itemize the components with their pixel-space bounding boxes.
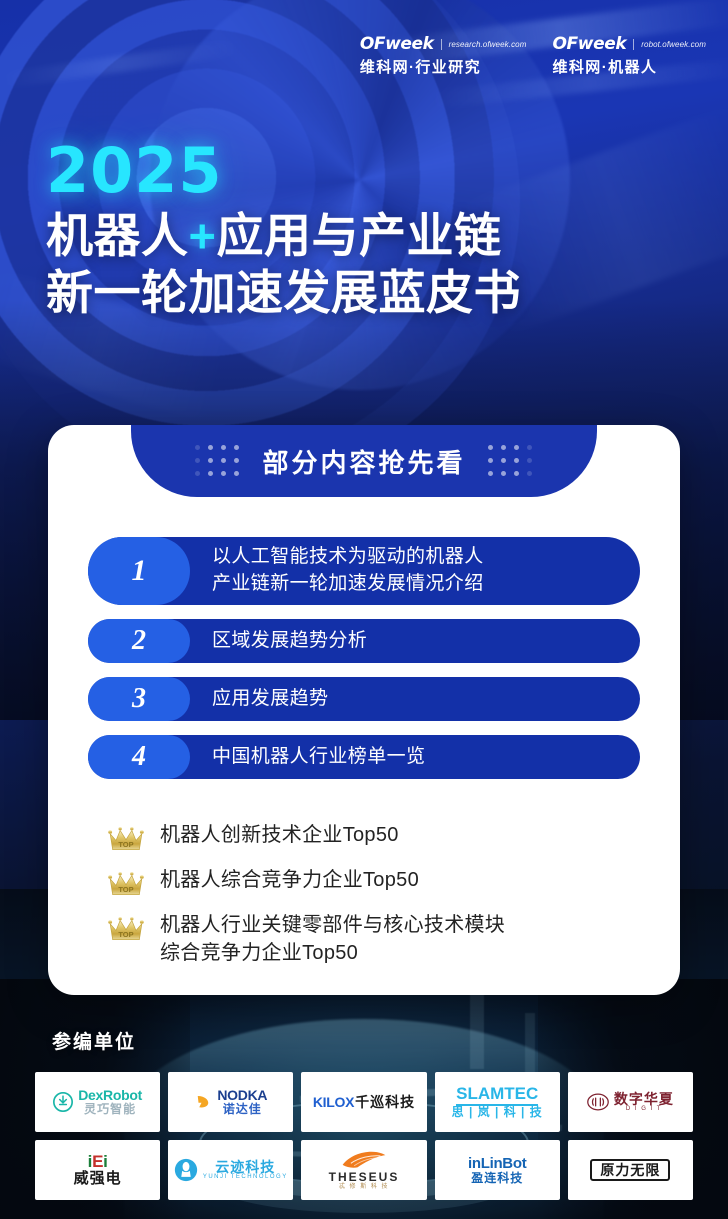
partner-logo-sub: 忒 修 斯 科 技	[339, 1184, 389, 1190]
brand-robot-cn: 维科网·机器人	[553, 56, 658, 77]
svg-text:TOP: TOP	[118, 840, 133, 849]
partner-logo[interactable]: inLinBot盈连科技	[435, 1140, 560, 1200]
partner-logo-mark-icon	[174, 1158, 198, 1182]
title-line1-part-a: 机器人	[46, 209, 189, 262]
poster-root: OFweek research.ofweek.com 维科网·行业研究 OFwe…	[0, 0, 728, 1219]
divider	[633, 39, 634, 50]
svg-text:TOP: TOP	[118, 885, 133, 894]
dot-grid-right-icon	[488, 445, 533, 477]
brand-robot[interactable]: OFweek robot.ofweek.com 维科网·机器人	[553, 36, 707, 77]
partner-logo-cn: 盈连科技	[471, 1172, 523, 1185]
partner-logo-mark-icon	[194, 1093, 212, 1111]
partner-logo-cn: 威强电	[74, 1171, 122, 1187]
row-number-badge: 4	[88, 735, 190, 779]
crown-list-item[interactable]: TOP 机器人行业关键零部件与核心技术模块综合竞争力企业Top50	[106, 911, 646, 968]
title-line-2: 新一轮加速发展蓝皮书	[46, 264, 521, 321]
crown-item-label: 机器人行业关键零部件与核心技术模块综合竞争力企业Top50	[160, 911, 505, 968]
row-label: 应用发展趋势	[190, 680, 346, 719]
brand-research-url: research.ofweek.com	[449, 40, 527, 49]
content-row[interactable]: 1以人工智能技术为驱动的机器人产业链新一轮加速发展情况介绍	[88, 537, 640, 605]
partner-logo-cn: 灵巧智能	[84, 1103, 136, 1116]
title-line1-part-b: 应用与产业链	[216, 209, 501, 262]
partner-logo[interactable]: 原力无限	[568, 1140, 693, 1200]
partner-logo[interactable]: 数字华夏D I G I T	[568, 1072, 693, 1132]
poster-title: 2025 机器人+应用与产业链 新一轮加速发展蓝皮书	[46, 142, 521, 322]
partners-label: 参编单位	[52, 1027, 136, 1054]
partner-logo[interactable]: SLAMTEC思 | 岚 | 科 | 技	[435, 1072, 560, 1132]
partner-logo-en: KILOX	[313, 1095, 354, 1110]
background-deck-bar	[525, 1013, 535, 1079]
content-card: 部分内容抢先看 1以人工智能技术为驱动的机器人产业链新一轮加速发展情况介绍2区域…	[48, 425, 680, 995]
partner-logo-en: inLinBot	[468, 1156, 526, 1172]
dot-grid-left-icon	[195, 445, 240, 477]
crown-list: TOP 机器人创新技术企业Top50 TOP 机器人综合竞争力企业Top50 T…	[106, 821, 646, 981]
title-plus-symbol: +	[189, 209, 217, 262]
ofweek-logo-icon: OFweek	[553, 36, 627, 53]
partner-logo-en: SLAMTEC	[456, 1085, 538, 1106]
partner-logo-cn: 数字华夏	[614, 1092, 674, 1107]
partner-logo-mark-icon	[53, 1092, 73, 1112]
partner-logo-sub: D I G I T	[626, 1106, 662, 1112]
partner-logo-en: NODKA	[217, 1088, 267, 1103]
partner-logo[interactable]: 云迹科技YUNJI TECHNOLOGY	[168, 1140, 293, 1200]
row-number-badge: 1	[88, 537, 190, 605]
crown-list-item[interactable]: TOP 机器人综合竞争力企业Top50	[106, 866, 646, 898]
crown-top-icon: TOP	[106, 823, 146, 853]
crown-item-label: 机器人综合竞争力企业Top50	[160, 866, 419, 894]
partner-logo-cn: 云迹科技	[215, 1160, 275, 1175]
title-year: 2025	[46, 142, 521, 201]
row-number-badge: 3	[88, 677, 190, 721]
numbered-rows: 1以人工智能技术为驱动的机器人产业链新一轮加速发展情况介绍2区域发展趋势分析3应…	[88, 537, 640, 793]
partner-logo[interactable]: KILOX千巡科技	[301, 1072, 426, 1132]
partner-logo[interactable]: NODKA诺达佳	[168, 1072, 293, 1132]
content-row[interactable]: 3应用发展趋势	[88, 677, 640, 721]
content-row[interactable]: 2区域发展趋势分析	[88, 619, 640, 663]
crown-list-item[interactable]: TOP 机器人创新技术企业Top50	[106, 821, 646, 853]
crown-item-label: 机器人创新技术企业Top50	[160, 821, 399, 849]
brand-robot-top: OFweek robot.ofweek.com	[553, 36, 707, 53]
crown-top-icon: TOP	[106, 913, 146, 943]
crown-top-icon: TOP	[106, 913, 146, 943]
brand-bar: OFweek research.ofweek.com 维科网·行业研究 OFwe…	[360, 36, 706, 77]
row-label: 以人工智能技术为驱动的机器人产业链新一轮加速发展情况介绍	[190, 538, 502, 604]
crown-top-icon: TOP	[106, 868, 146, 898]
brand-robot-url: robot.ofweek.com	[641, 40, 706, 49]
title-line-1: 机器人+应用与产业链	[46, 207, 521, 264]
partner-logo[interactable]: THESEUS忒 修 斯 科 技	[301, 1140, 426, 1200]
brand-research-cn: 维科网·行业研究	[360, 56, 481, 77]
background-deck-bar	[470, 989, 484, 1069]
row-number-badge: 2	[88, 619, 190, 663]
crown-top-icon: TOP	[106, 868, 146, 898]
partner-logo-grid: DexRobot灵巧智能NODKA诺达佳KILOX千巡科技SLAMTEC思 | …	[35, 1072, 693, 1200]
partner-logo-en: THESEUS	[329, 1171, 400, 1184]
partner-logo-cn: 诺达佳	[223, 1103, 262, 1116]
partner-logo-cn: 原力无限	[600, 1163, 660, 1178]
partner-logo-mark-icon	[587, 1093, 609, 1111]
partner-logo-cn: 思 | 岚 | 科 | 技	[452, 1106, 543, 1119]
partner-logo-sub: YUNJI TECHNOLOGY	[203, 1174, 288, 1180]
partner-logo[interactable]: DexRobot灵巧智能	[35, 1072, 160, 1132]
card-ribbon-header: 部分内容抢先看	[131, 425, 597, 497]
brand-research-top: OFweek research.ofweek.com	[360, 36, 527, 53]
partner-logo[interactable]: iEi威强电	[35, 1140, 160, 1200]
row-label: 中国机器人行业榜单一览	[190, 738, 443, 777]
svg-text:TOP: TOP	[118, 930, 133, 939]
partner-logo-en: iEi	[88, 1153, 108, 1171]
brand-research[interactable]: OFweek research.ofweek.com 维科网·行业研究	[360, 36, 527, 77]
row-label: 区域发展趋势分析	[190, 622, 385, 661]
divider	[441, 39, 442, 50]
ribbon-title: 部分内容抢先看	[262, 443, 465, 480]
ofweek-logo-icon: OFweek	[360, 36, 434, 53]
partner-logo-cn: 千巡科技	[355, 1095, 415, 1110]
crown-top-icon: TOP	[106, 823, 146, 853]
partner-logo-mark-icon	[341, 1150, 387, 1170]
partner-logo-en: DexRobot	[78, 1088, 142, 1103]
content-row[interactable]: 4中国机器人行业榜单一览	[88, 735, 640, 779]
